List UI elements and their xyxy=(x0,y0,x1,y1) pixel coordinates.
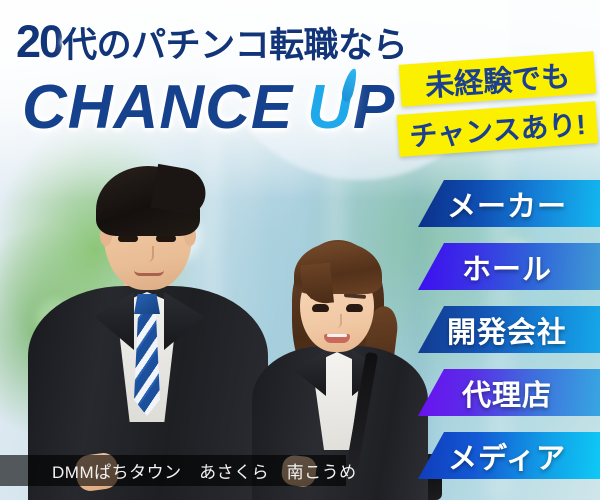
man-mouth xyxy=(134,270,164,276)
man-necktie xyxy=(134,300,160,416)
man-nose xyxy=(142,246,154,262)
person-man xyxy=(28,150,268,500)
logo-letter-u: U xyxy=(307,72,353,143)
woman-mouth xyxy=(324,334,350,343)
woman-eye-left xyxy=(312,304,329,312)
man-necktie-knot xyxy=(134,294,160,314)
category-button-hall[interactable]: ホール xyxy=(418,243,600,290)
logo-letter-p: P xyxy=(353,73,395,142)
woman-nose xyxy=(332,314,342,328)
man-hair xyxy=(96,166,200,236)
credit-text: DMMぱちタウン あさくら 南こうめ xyxy=(52,455,357,486)
headline-rest: 代のパチンコ転職なら xyxy=(62,26,407,65)
category-button-maker[interactable]: メーカー xyxy=(418,180,600,227)
people-photo xyxy=(0,140,420,500)
category-button-agency[interactable]: 代理店 xyxy=(418,369,600,416)
headline: 20代のパチンコ転職なら xyxy=(16,16,407,68)
logo-chance-up: CHANCEUP xyxy=(22,72,395,143)
headline-number: 20 xyxy=(16,16,62,67)
woman-eye-right xyxy=(346,304,363,312)
woman-hair-front xyxy=(294,242,382,294)
category-button-development-company[interactable]: 開発会社 xyxy=(418,306,600,353)
advertisement-banner[interactable]: 20代のパチンコ転職なら CHANCEUP 未経験でも チャンスあり! メーカー… xyxy=(0,0,600,500)
logo-word-chance: CHANCE xyxy=(22,73,293,142)
category-button-media[interactable]: メディア xyxy=(418,432,600,479)
